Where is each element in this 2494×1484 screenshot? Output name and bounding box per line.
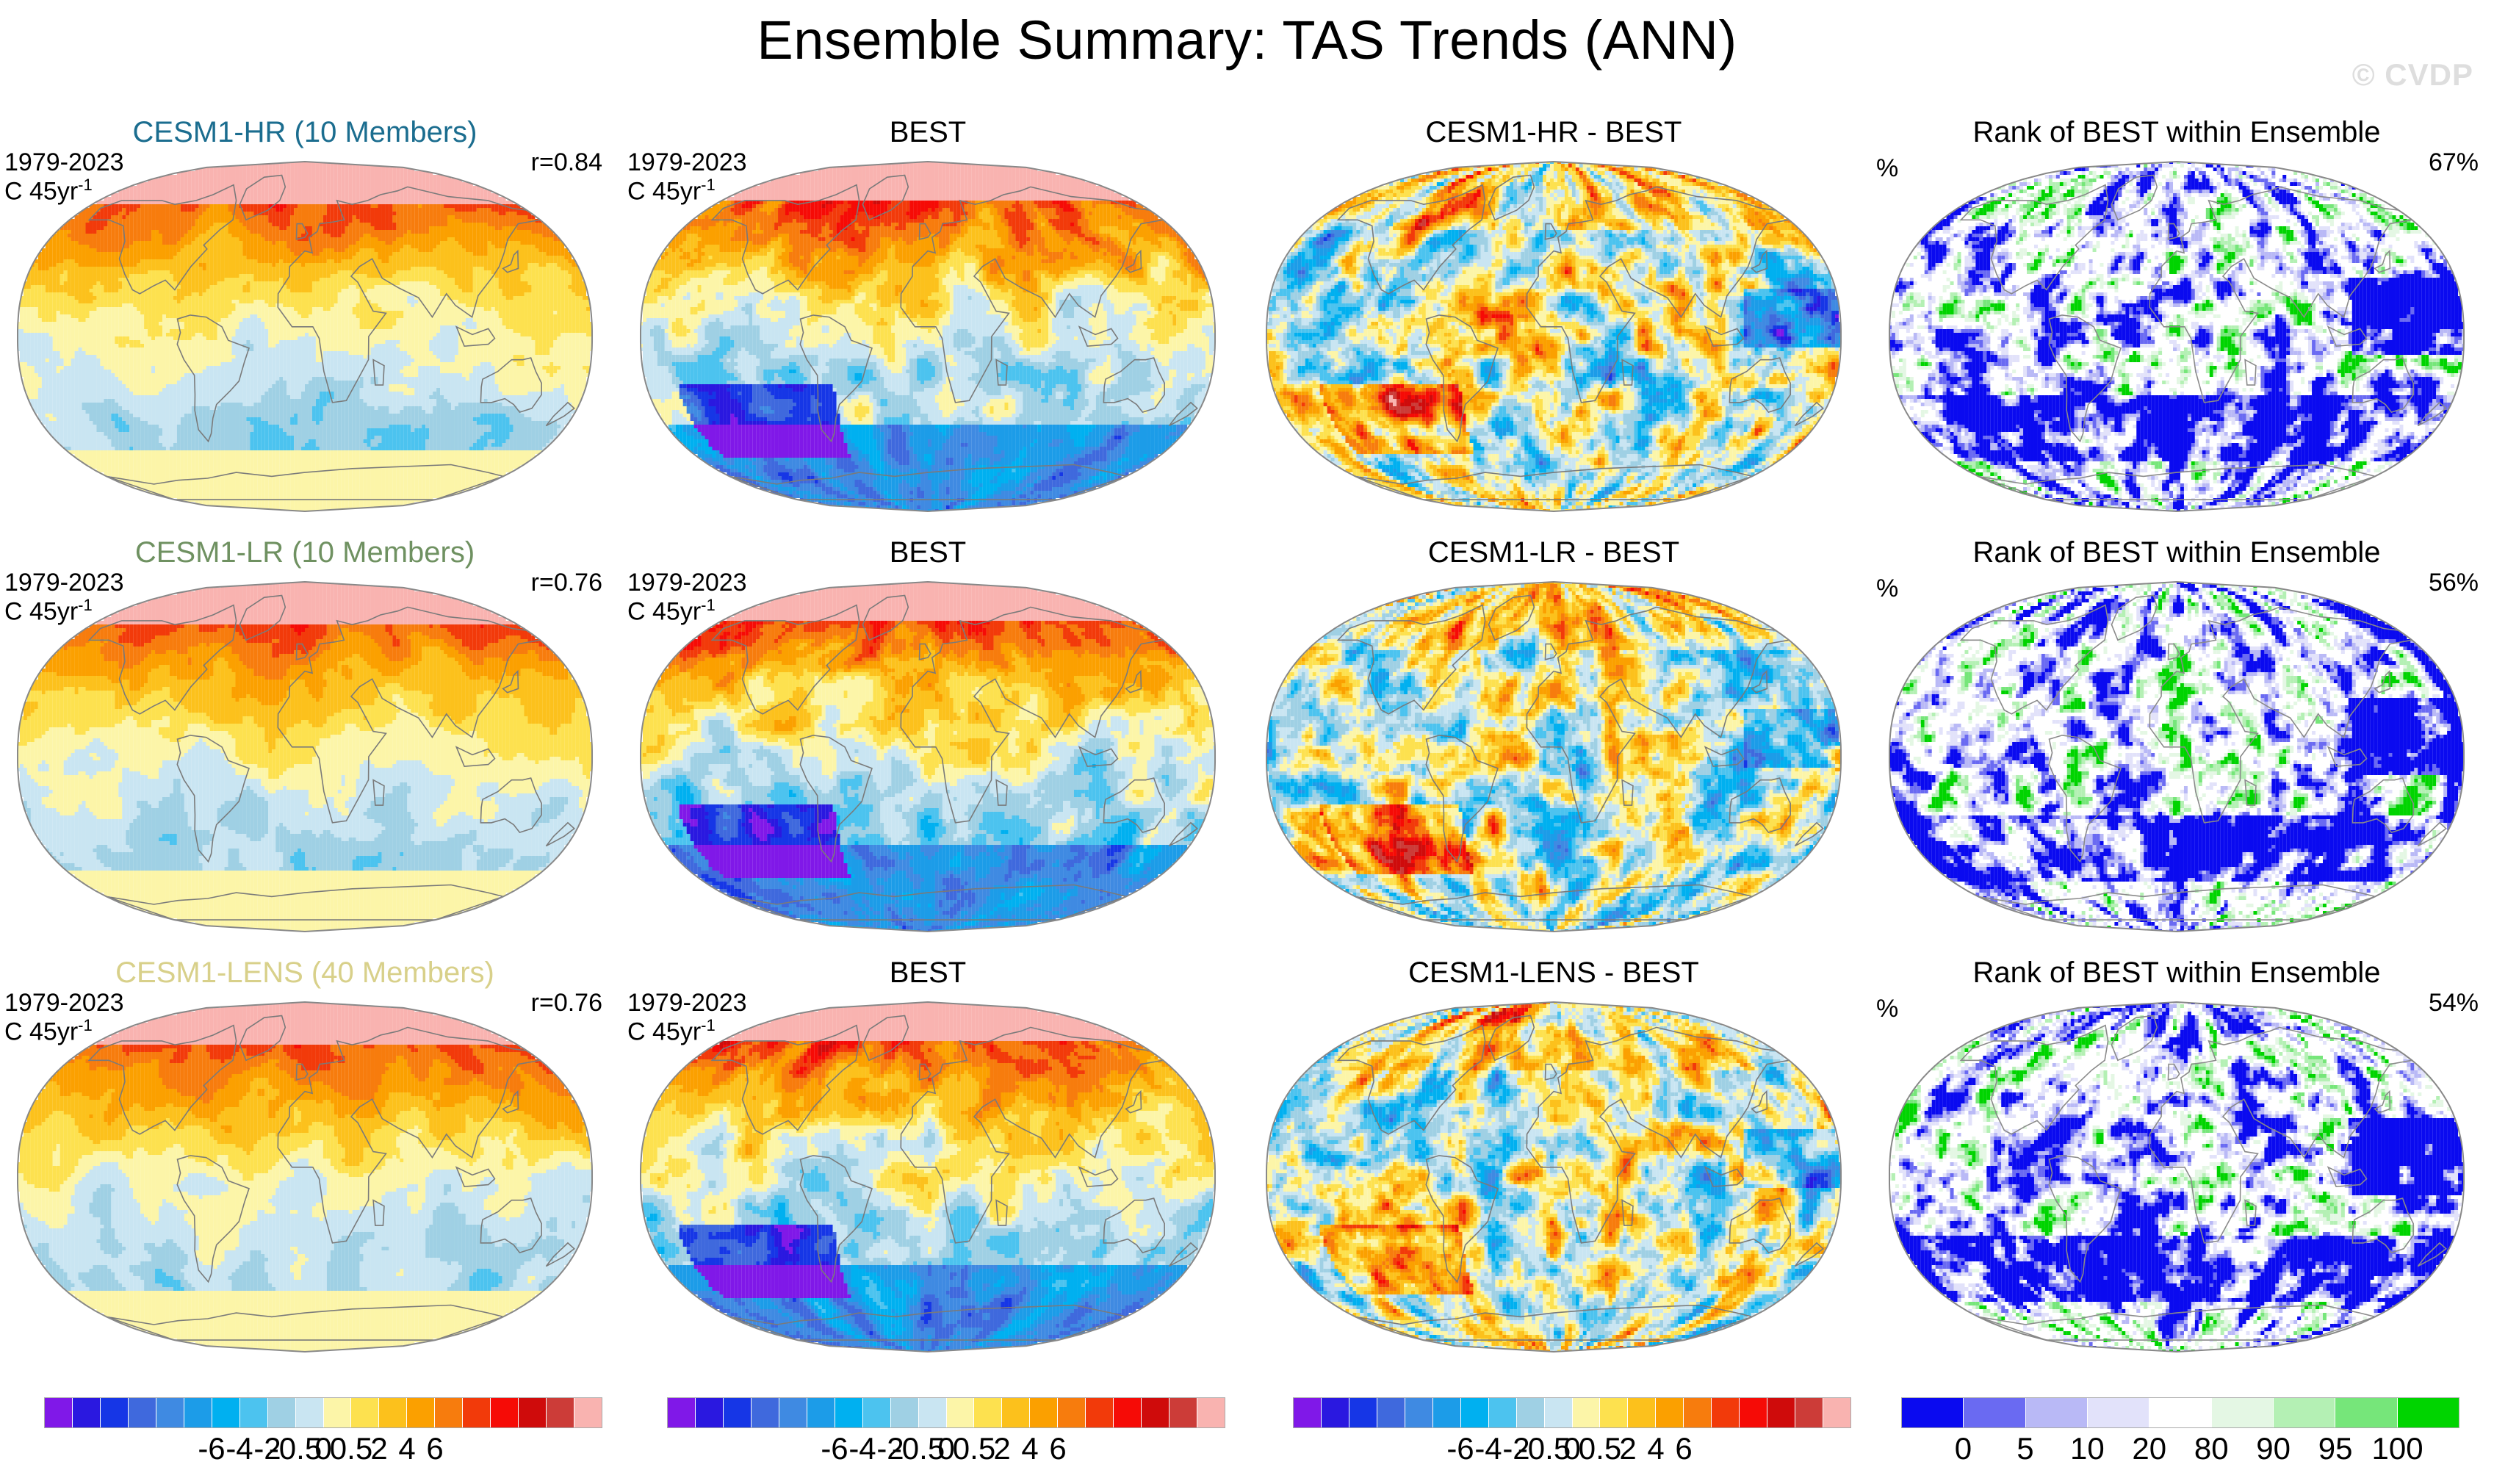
rank-colorbar-swatch <box>2212 1398 2274 1427</box>
trend-colorbar-2-strip <box>667 1397 1225 1428</box>
rank-colorbar-tick: 100 <box>2372 1431 2423 1466</box>
trend-colorbar-2-swatch <box>947 1398 975 1427</box>
trend-colorbar-2-swatch <box>974 1398 1002 1427</box>
trend-colorbar-3-swatch <box>1712 1398 1740 1427</box>
trend-colorbar-1-swatch <box>184 1398 212 1427</box>
panel-model-row2: CESM1-LR (10 Members)1979-2023C 45yr-1r=… <box>0 536 610 933</box>
trend-colorbar-3-swatch <box>1795 1398 1823 1427</box>
panel-obs-row1: BEST1979-2023C 45yr-1 <box>623 116 1233 513</box>
trend-colorbar-1-swatch <box>463 1398 491 1427</box>
map-diff <box>1265 160 1842 513</box>
map-rank <box>1888 160 2465 513</box>
trend-colorbar-3-tick: -6 <box>1446 1431 1474 1466</box>
trend-colorbar-3-swatch <box>1823 1398 1850 1427</box>
trend-colorbar-1-swatch <box>212 1398 240 1427</box>
trend-colorbar-2-ticks: -6-4-2-0.500.5246 <box>667 1428 1225 1469</box>
trend-colorbar-1-swatch <box>45 1398 73 1427</box>
panel-title-obs: BEST <box>623 116 1233 149</box>
trend-colorbar-1-swatch <box>101 1398 129 1427</box>
trend-colorbar-2-tick: 0.5 <box>953 1431 995 1466</box>
panel-obs-row2: BEST1979-2023C 45yr-1 <box>623 536 1233 933</box>
trend-colorbar-2-swatch <box>1002 1398 1030 1427</box>
trend-colorbar-2-swatch <box>779 1398 807 1427</box>
trend-colorbar-2-swatch <box>919 1398 947 1427</box>
trend-colorbar-2-swatch <box>863 1398 891 1427</box>
rank-colorbar-swatch <box>2398 1398 2459 1427</box>
trend-colorbar-3-swatch <box>1433 1398 1461 1427</box>
trend-colorbar-3-swatch <box>1545 1398 1573 1427</box>
panel-diff-row3: CESM1-LENS - BEST <box>1249 957 1859 1353</box>
trend-colorbar-2-tick: 4 <box>1021 1431 1038 1466</box>
trend-colorbar-1-swatch <box>73 1398 101 1427</box>
trend-colorbar-3-swatch <box>1349 1398 1377 1427</box>
panel-title-diff: CESM1-LR - BEST <box>1249 536 1859 569</box>
trend-colorbar-1-swatch <box>268 1398 296 1427</box>
trend-colorbar-3-tick: -4 <box>1474 1431 1502 1466</box>
trend-colorbar-3-tick: 4 <box>1647 1431 1664 1466</box>
panel-title-diff: CESM1-LENS - BEST <box>1249 957 1859 990</box>
map-model <box>16 160 594 513</box>
page-title: Ensemble Summary: TAS Trends (ANN) <box>0 9 2494 71</box>
trend-colorbar-2: -6-4-2-0.500.5246 <box>667 1397 1225 1469</box>
rank-colorbar-swatch <box>2274 1398 2335 1427</box>
map-diff <box>1265 580 1842 933</box>
trend-colorbar-2-swatch <box>1030 1398 1058 1427</box>
trend-colorbar-2-swatch <box>1197 1398 1225 1427</box>
trend-colorbar-3-tick: 2 <box>1619 1431 1636 1466</box>
rank-colorbar-tick: 90 <box>2256 1431 2291 1466</box>
trend-colorbar-3: -6-4-2-0.500.5246 <box>1293 1397 1851 1469</box>
trend-colorbar-2-tick: -6 <box>821 1431 848 1466</box>
rank-colorbar-swatch <box>1902 1398 1964 1427</box>
trend-colorbar-2-swatch <box>724 1398 752 1427</box>
trend-colorbar-1-swatch <box>435 1398 463 1427</box>
trend-colorbar-3-tick: 0.5 <box>1579 1431 1621 1466</box>
trend-colorbar-1-swatch <box>296 1398 324 1427</box>
trend-colorbar-1-swatch <box>574 1398 602 1427</box>
panel-obs-row3: BEST1979-2023C 45yr-1 <box>623 957 1233 1353</box>
trend-colorbar-2-swatch <box>1058 1398 1086 1427</box>
trend-colorbar-3-swatch <box>1628 1398 1656 1427</box>
trend-colorbar-2-swatch <box>891 1398 919 1427</box>
panel-model-row3: CESM1-LENS (40 Members)1979-2023C 45yr-1… <box>0 957 610 1353</box>
rank-colorbar-swatch <box>2335 1398 2397 1427</box>
map-model <box>16 580 594 933</box>
trend-colorbar-3-swatch <box>1489 1398 1517 1427</box>
trend-colorbar-2-tick: 6 <box>1049 1431 1066 1466</box>
rank-colorbar-tick: 80 <box>2194 1431 2229 1466</box>
rank-colorbar-swatch <box>1964 1398 2025 1427</box>
rank-colorbar-tick: 0 <box>1955 1431 1972 1466</box>
cvdp-watermark: © CVDP <box>2352 57 2473 93</box>
trend-colorbar-3-swatch <box>1600 1398 1628 1427</box>
trend-colorbar-1-swatch <box>407 1398 435 1427</box>
trend-colorbar-1-tick: 4 <box>398 1431 415 1466</box>
trend-colorbar-2-swatch <box>696 1398 724 1427</box>
trend-colorbar-2-tick: 2 <box>993 1431 1010 1466</box>
panel-rank-row2: Rank of BEST within Ensemble%56% <box>1872 536 2482 933</box>
trend-colorbar-3-swatch <box>1740 1398 1767 1427</box>
rank-colorbar-tick: 5 <box>2017 1431 2033 1466</box>
panel-rank-row3: Rank of BEST within Ensemble%54% <box>1872 957 2482 1353</box>
trend-colorbar-1-tick: -4 <box>226 1431 253 1466</box>
rank-colorbar-strip <box>1901 1397 2459 1428</box>
panel-title-obs: BEST <box>623 536 1233 569</box>
trend-colorbar-1-ticks: -6-4-2-0.500.5246 <box>44 1428 602 1469</box>
trend-colorbar-2-swatch <box>752 1398 779 1427</box>
trend-colorbar-1-swatch <box>491 1398 519 1427</box>
trend-colorbar-1-swatch <box>129 1398 156 1427</box>
panel-model-row1: CESM1-HR (10 Members)1979-2023C 45yr-1r=… <box>0 116 610 513</box>
panel-title-model: CESM1-LENS (40 Members) <box>0 957 610 990</box>
trend-colorbar-3-swatch <box>1656 1398 1684 1427</box>
trend-colorbar-3-swatch <box>1517 1398 1545 1427</box>
trend-colorbar-3-swatch <box>1405 1398 1433 1427</box>
trend-colorbar-1-swatch <box>156 1398 184 1427</box>
trend-colorbar-2-swatch <box>807 1398 835 1427</box>
trend-colorbar-1: -6-4-2-0.500.5246 <box>44 1397 602 1469</box>
trend-colorbar-3-swatch <box>1377 1398 1405 1427</box>
trend-colorbar-2-swatch <box>1142 1398 1169 1427</box>
rank-colorbar: 051020809095100 <box>1901 1397 2459 1469</box>
rank-colorbar-ticks: 051020809095100 <box>1901 1428 2459 1469</box>
map-rank <box>1888 1001 2465 1353</box>
rank-colorbar-tick: 95 <box>2318 1431 2353 1466</box>
trend-colorbar-3-swatch <box>1294 1398 1322 1427</box>
map-diff <box>1265 1001 1842 1353</box>
panel-title-rank: Rank of BEST within Ensemble <box>1872 116 2482 149</box>
panel-title-obs: BEST <box>623 957 1233 990</box>
trend-colorbar-1-swatch <box>351 1398 379 1427</box>
trend-colorbar-2-tick: -4 <box>848 1431 876 1466</box>
trend-colorbar-3-swatch <box>1461 1398 1489 1427</box>
panel-title-rank: Rank of BEST within Ensemble <box>1872 957 2482 990</box>
panel-diff-row1: CESM1-HR - BEST <box>1249 116 1859 513</box>
map-obs <box>639 580 1217 933</box>
trend-colorbar-3-swatch <box>1322 1398 1349 1427</box>
rank-colorbar-swatch <box>2088 1398 2149 1427</box>
map-obs <box>639 1001 1217 1353</box>
map-obs <box>639 160 1217 513</box>
trend-colorbar-3-swatch <box>1573 1398 1601 1427</box>
trend-colorbar-1-tick: 0.5 <box>330 1431 372 1466</box>
map-rank <box>1888 580 2465 933</box>
trend-colorbar-2-swatch <box>668 1398 696 1427</box>
trend-colorbar-3-swatch <box>1767 1398 1795 1427</box>
rank-colorbar-tick: 10 <box>2070 1431 2105 1466</box>
trend-colorbar-1-swatch <box>324 1398 352 1427</box>
panel-title-model: CESM1-LR (10 Members) <box>0 536 610 569</box>
trend-colorbar-1-tick: -6 <box>198 1431 225 1466</box>
panel-rank-row1: Rank of BEST within Ensemble%67% <box>1872 116 2482 513</box>
trend-colorbar-1-swatch <box>547 1398 574 1427</box>
trend-colorbar-1-tick: 2 <box>370 1431 387 1466</box>
trend-colorbar-2-swatch <box>1086 1398 1114 1427</box>
trend-colorbar-3-tick: 6 <box>1675 1431 1692 1466</box>
panel-title-model: CESM1-HR (10 Members) <box>0 116 610 149</box>
trend-colorbar-3-ticks: -6-4-2-0.500.5246 <box>1293 1428 1851 1469</box>
rank-colorbar-tick: 20 <box>2132 1431 2166 1466</box>
trend-colorbar-1-strip <box>44 1397 602 1428</box>
map-model <box>16 1001 594 1353</box>
trend-colorbar-2-swatch <box>835 1398 863 1427</box>
rank-colorbar-swatch <box>2149 1398 2211 1427</box>
panel-title-rank: Rank of BEST within Ensemble <box>1872 536 2482 569</box>
trend-colorbar-1-swatch <box>240 1398 268 1427</box>
trend-colorbar-1-swatch <box>519 1398 547 1427</box>
panel-diff-row2: CESM1-LR - BEST <box>1249 536 1859 933</box>
trend-colorbar-1-swatch <box>379 1398 407 1427</box>
panel-title-diff: CESM1-HR - BEST <box>1249 116 1859 149</box>
trend-colorbar-3-swatch <box>1684 1398 1712 1427</box>
rank-colorbar-swatch <box>2026 1398 2088 1427</box>
trend-colorbar-1-tick: 6 <box>426 1431 443 1466</box>
trend-colorbar-2-swatch <box>1114 1398 1142 1427</box>
trend-colorbar-3-strip <box>1293 1397 1851 1428</box>
trend-colorbar-2-swatch <box>1169 1398 1197 1427</box>
